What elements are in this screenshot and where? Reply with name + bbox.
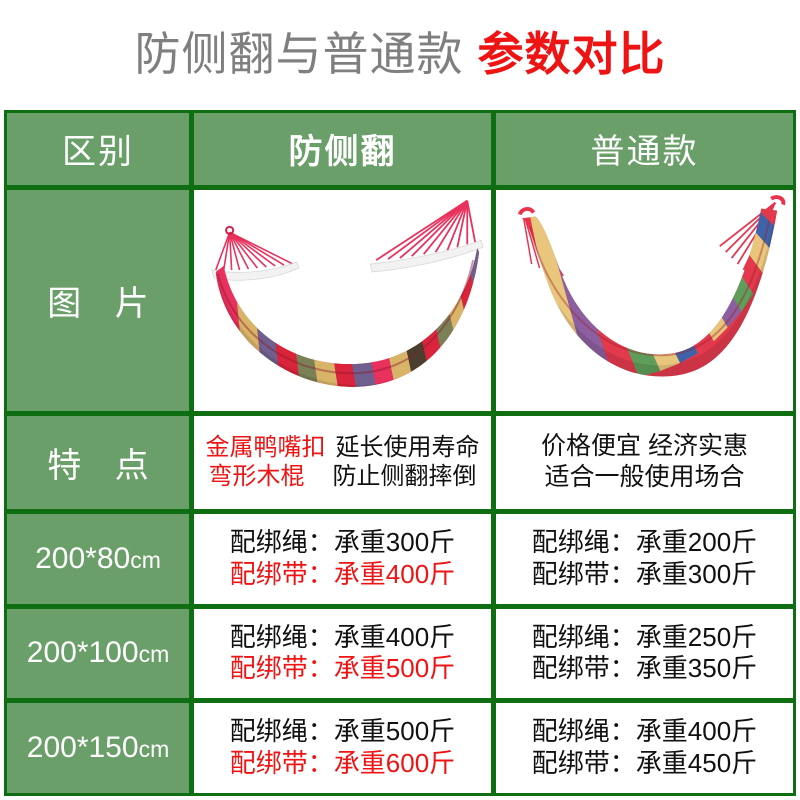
spec-size-text-0: 200*80cm (35, 542, 161, 576)
header-cell-anti-flip: 防侧翻 (194, 113, 491, 185)
spec-size-text-1: 200*100cm (27, 636, 169, 670)
page-title: 防侧翻与普通款 参数对比 (0, 0, 800, 108)
spec-std-rope-1: 配绑绳：承重250斤 (532, 622, 757, 654)
spec-std-strap-2: 配绑带：承重450斤 (532, 748, 757, 780)
comparison-table: 区别 防侧翻 普通款 图 片 (4, 110, 796, 796)
header-label-difference: 区别 (62, 124, 134, 173)
comparison-infographic: 防侧翻与普通款 参数对比 区别 防侧翻 普通款 图 片 (0, 0, 800, 800)
spec-size-label-0: 200*80cm (7, 514, 189, 604)
spec-size-unit-2: cm (139, 736, 170, 762)
feature-standard-line-1: 价格便宜 经济实惠 (541, 432, 748, 462)
feature-highlight-1: 金属鸭嘴扣 (206, 434, 326, 462)
spec-lines-standard-0: 配绑绳：承重200斤 配绑带：承重300斤 (532, 527, 757, 590)
feature-highlight-2: 弯形木棍 (209, 463, 305, 491)
spec-std-rope-2: 配绑绳：承重400斤 (532, 716, 757, 748)
spec-size-unit-1: cm (139, 641, 170, 667)
table-spec-row: 200*80cm 配绑绳：承重300斤 配绑带：承重400斤 配绑绳：承重200… (7, 514, 793, 604)
table-image-row: 图 片 (7, 190, 793, 411)
spec-strap-2: 配绑带：承重600斤 (230, 748, 455, 780)
spec-strap-1: 配绑带：承重500斤 (230, 653, 455, 685)
spec-size-number-1: 200*100 (27, 636, 139, 669)
spec-std-strap-1: 配绑带：承重350斤 (532, 653, 757, 685)
feature-plain-2: 防止侧翻摔倒 (333, 463, 477, 491)
spec-size-unit-0: cm (130, 547, 161, 573)
header-label-anti-flip: 防侧翻 (289, 124, 397, 173)
header-label-standard: 普通款 (591, 124, 699, 173)
hammock-plain-icon (496, 190, 793, 411)
spec-size-label-1: 200*100cm (7, 609, 189, 699)
spec-strap-0: 配绑带：承重400斤 (230, 559, 455, 591)
spec-lines-standard-2: 配绑绳：承重400斤 配绑带：承重450斤 (532, 716, 757, 779)
header-cell-difference: 区别 (7, 113, 189, 185)
spec-size-number-2: 200*150 (27, 731, 139, 764)
feature-line-1: 金属鸭嘴扣 延长使用寿命 (206, 434, 480, 462)
spec-rope-0: 配绑绳：承重300斤 (230, 527, 455, 559)
spec-cell-standard-2: 配绑绳：承重400斤 配绑带：承重450斤 (496, 703, 793, 793)
row-label-image: 图 片 (7, 190, 189, 411)
table-feature-row: 特 点 金属鸭嘴扣 延长使用寿命 弯形木棍 防止侧翻摔倒 (7, 416, 793, 509)
title-gray-text: 防侧翻与普通款 (135, 31, 464, 77)
spec-cell-standard-1: 配绑绳：承重250斤 配绑带：承重350斤 (496, 609, 793, 699)
feature-standard-line-2: 适合一般使用场合 (541, 463, 748, 493)
spec-lines-standard-1: 配绑绳：承重250斤 配绑带：承重350斤 (532, 622, 757, 685)
table-spec-row: 200*150cm 配绑绳：承重500斤 配绑带：承重600斤 配绑绳：承重40… (7, 703, 793, 793)
cord-group-left (216, 232, 293, 270)
spec-cell-standard-0: 配绑绳：承重200斤 配绑带：承重300斤 (496, 514, 793, 604)
spec-cell-anti-flip-2: 配绑绳：承重500斤 配绑带：承重600斤 (194, 703, 491, 793)
image-cell-anti-flip (194, 190, 491, 411)
spec-size-label-2: 200*150cm (7, 703, 189, 793)
feature-text-standard: 价格便宜 经济实惠 适合一般使用场合 (541, 432, 748, 492)
spec-size-number-0: 200*80 (35, 542, 130, 575)
row-label-feature-text: 特 点 (35, 438, 160, 487)
row-label-image-text: 图 片 (35, 276, 160, 325)
spec-size-text-2: 200*150cm (27, 731, 169, 765)
spec-rope-1: 配绑绳：承重400斤 (230, 622, 455, 654)
spec-cell-anti-flip-0: 配绑绳：承重300斤 配绑带：承重400斤 (194, 514, 491, 604)
hammock-with-spreader-bar-icon (194, 190, 491, 411)
spec-lines-anti-flip-0: 配绑绳：承重300斤 配绑带：承重400斤 (230, 527, 455, 590)
feature-plain-1: 延长使用寿命 (336, 434, 480, 462)
spec-lines-anti-flip-1: 配绑绳：承重400斤 配绑带：承重500斤 (230, 622, 455, 685)
title-red-text: 参数对比 (478, 31, 666, 77)
row-label-feature: 特 点 (7, 416, 189, 509)
feature-line-2: 弯形木棍 防止侧翻摔倒 (206, 463, 480, 491)
hanging-loop-left (520, 209, 534, 215)
table-header-row: 区别 防侧翻 普通款 (7, 113, 793, 185)
spec-cell-anti-flip-1: 配绑绳：承重400斤 配绑带：承重500斤 (194, 609, 491, 699)
image-cell-standard (496, 190, 793, 411)
spec-lines-anti-flip-2: 配绑绳：承重500斤 配绑带：承重600斤 (230, 716, 455, 779)
feature-cell-anti-flip: 金属鸭嘴扣 延长使用寿命 弯形木棍 防止侧翻摔倒 (194, 416, 491, 509)
spec-std-rope-0: 配绑绳：承重200斤 (532, 527, 757, 559)
feature-text-anti-flip: 金属鸭嘴扣 延长使用寿命 弯形木棍 防止侧翻摔倒 (206, 434, 480, 492)
spreader-bar-right (370, 240, 483, 272)
table-spec-row: 200*100cm 配绑绳：承重400斤 配绑带：承重500斤 配绑绳：承重25… (7, 609, 793, 699)
feature-cell-standard: 价格便宜 经济实惠 适合一般使用场合 (496, 416, 793, 509)
header-cell-standard: 普通款 (496, 113, 793, 185)
spec-std-strap-0: 配绑带：承重300斤 (532, 559, 757, 591)
spec-rope-2: 配绑绳：承重500斤 (230, 716, 455, 748)
hammock-body-left (194, 191, 491, 411)
